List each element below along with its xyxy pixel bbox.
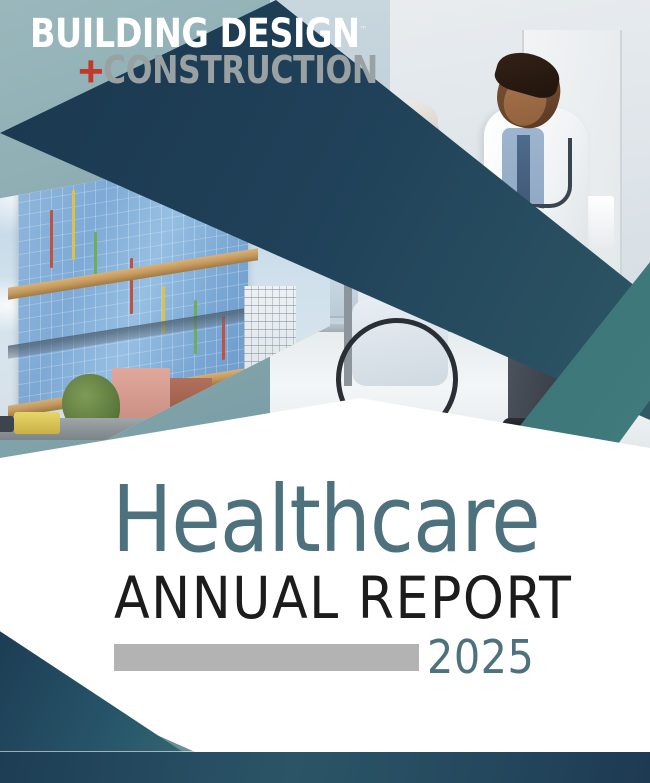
year-rule-bar (114, 644, 419, 671)
facade-fin (72, 190, 75, 260)
trademark-icon: ™ (359, 26, 367, 36)
page-title: Healthcare (112, 478, 539, 563)
masthead-logo: BUILDING DESIGN™ + CONSTRUCTION (30, 18, 360, 89)
plus-icon: + (78, 54, 104, 89)
logo-text-construction: CONSTRUCTION (103, 55, 378, 87)
report-cover: BUILDING DESIGN™ + CONSTRUCTION Healthca… (0, 0, 650, 783)
year-label: 2025 (427, 637, 534, 678)
stethoscope-icon (532, 138, 572, 208)
year-row: 2025 (114, 637, 552, 678)
page-subtitle: ANNUAL REPORT (114, 569, 552, 627)
facade-fin (130, 258, 133, 314)
bottom-strip (0, 752, 650, 783)
logo-line-building-design: BUILDING DESIGN™ (30, 18, 337, 52)
facade-fin (50, 210, 53, 268)
logo-line-construction: + CONSTRUCTION (78, 54, 360, 89)
car (0, 416, 14, 432)
bus (14, 412, 60, 434)
cover-title-block: Healthcare ANNUAL REPORT 2025 (112, 478, 552, 678)
